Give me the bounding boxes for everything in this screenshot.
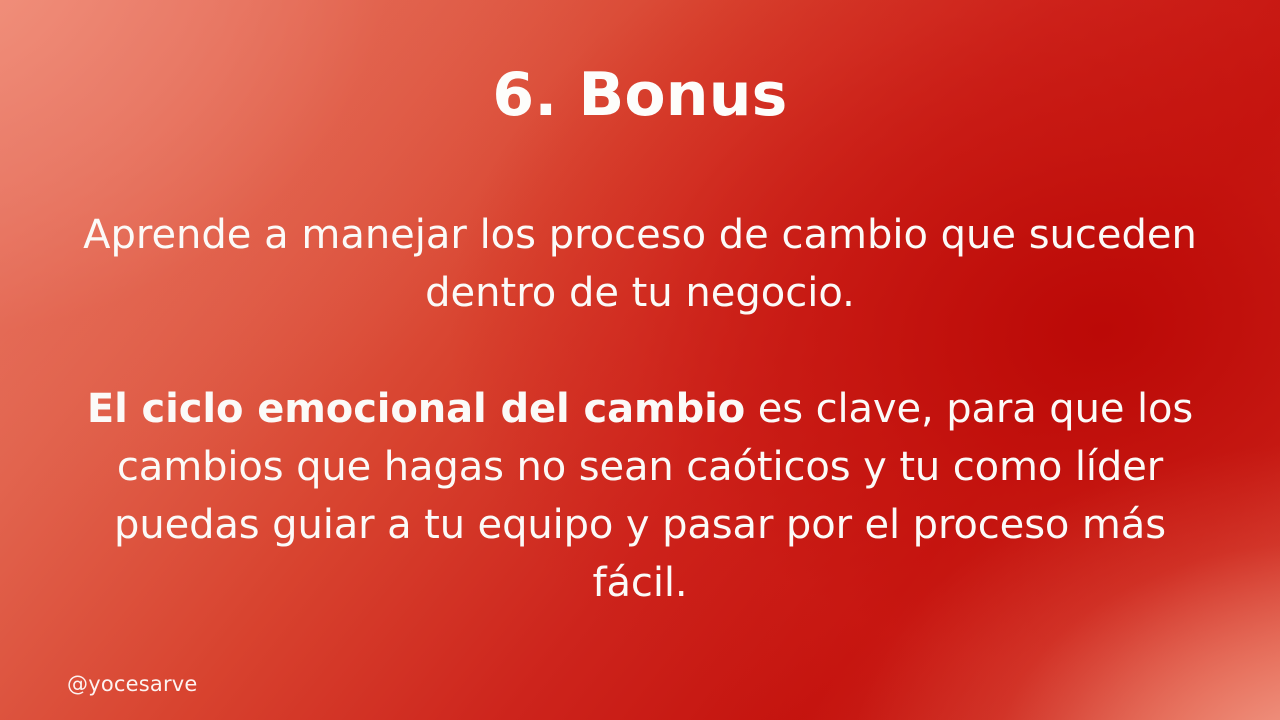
slide-body: Aprende a manejar los proceso de cambio … bbox=[64, 206, 1216, 612]
paragraph-detail-emphasis: El ciclo emocional del cambio bbox=[87, 386, 745, 432]
author-handle: @yocesarve bbox=[67, 672, 198, 696]
slide-title: 6. Bonus bbox=[0, 62, 1280, 128]
slide-canvas: 6. Bonus Aprende a manejar los proceso d… bbox=[0, 0, 1280, 720]
paragraph-detail: El ciclo emocional del cambio es clave, … bbox=[64, 380, 1216, 612]
paragraph-intro: Aprende a manejar los proceso de cambio … bbox=[64, 206, 1216, 322]
paragraph-spacer bbox=[64, 322, 1216, 380]
